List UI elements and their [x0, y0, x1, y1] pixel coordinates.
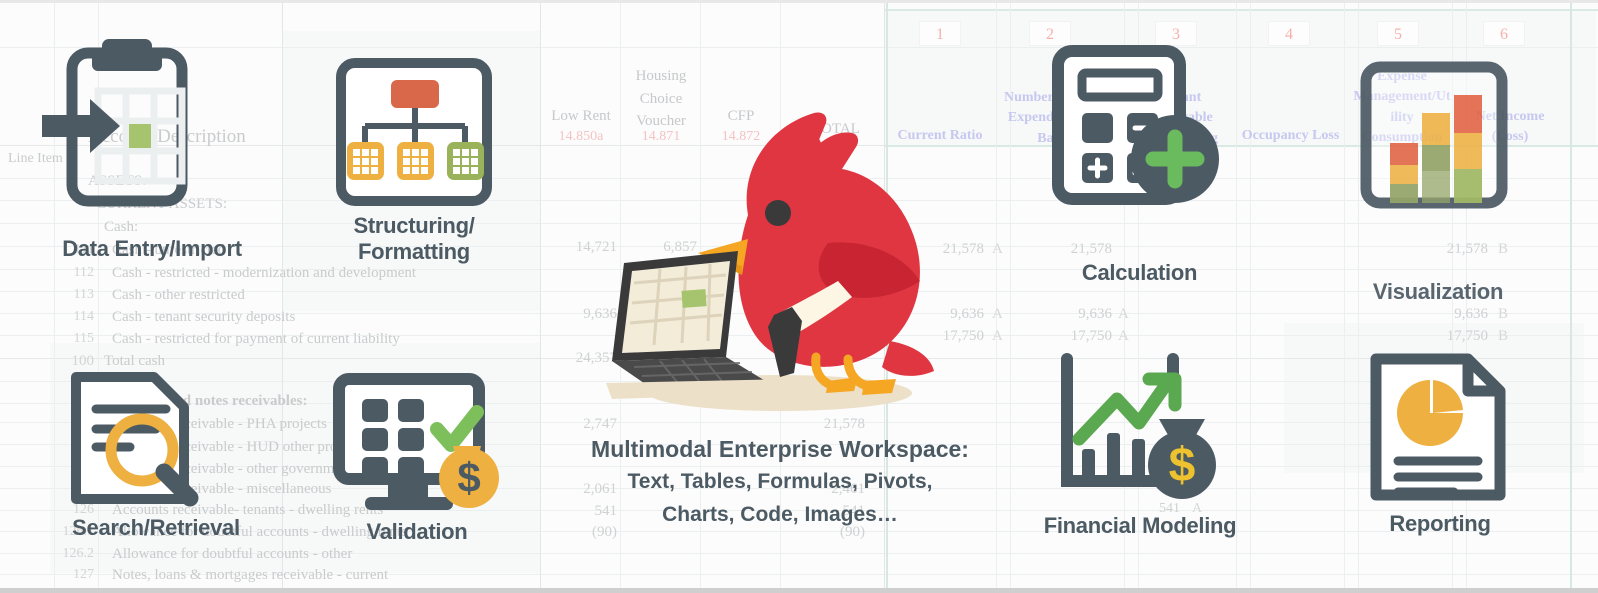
value-flag: B: [1498, 328, 1508, 345]
tile-calculation[interactable]: Calculation: [1052, 45, 1227, 220]
center-caption: Multimodal Enterprise Workspace: Text, T…: [540, 433, 1020, 531]
row-index: 127: [52, 567, 94, 583]
kpi-number-box: 3: [1155, 21, 1197, 46]
value-cell: 9,636: [1034, 306, 1112, 323]
hierarchy-icon: [336, 58, 492, 206]
row-desc: Allowance for doubtful accounts - other: [112, 546, 352, 563]
value-flag: B: [1498, 241, 1508, 258]
value-flag: B: [1498, 306, 1508, 323]
tile-label: Search/Retrieval: [40, 515, 272, 541]
tile-financial-modeling[interactable]: $ Financial Modeling: [1055, 353, 1225, 503]
value-flag: A: [992, 328, 1003, 345]
kpi-number-box: 4: [1268, 21, 1310, 46]
row-desc: Cash - tenant security deposits: [112, 309, 295, 326]
row-desc: Cash - restricted - modernization and de…: [112, 265, 416, 282]
value-cell: 9,636: [1410, 306, 1488, 323]
tile-visualization[interactable]: Visualization: [1360, 61, 1515, 216]
caption-line-3: Charts, Code, Images…: [540, 499, 1020, 532]
row-desc: Cash - other restricted: [112, 287, 245, 304]
tile-validation[interactable]: $ Validation: [333, 373, 503, 518]
value-cell: 2,747: [543, 416, 617, 433]
caption-line-1: Multimodal Enterprise Workspace:: [540, 433, 1020, 466]
caption-line-2: Text, Tables, Formulas, Pivots,: [540, 466, 1020, 499]
row-desc: Cash - restricted for payment of current…: [112, 331, 400, 348]
kpi-number-box: 6: [1483, 21, 1525, 46]
svg-text:$: $: [457, 454, 480, 501]
tile-label: Data Entry/Import: [38, 236, 266, 262]
tile-search-retrieval[interactable]: Search/Retrieval: [68, 367, 248, 517]
cardinal-bird-with-laptop-illustration: [590, 91, 940, 416]
kpi-number-box: 5: [1377, 21, 1419, 46]
value-cell: 17,750: [1034, 328, 1112, 345]
value-flag: A: [1118, 306, 1129, 323]
value-cell: 21,578: [1034, 241, 1112, 258]
tile-label: Validation: [317, 519, 517, 545]
value-cell: 17,750: [1410, 328, 1488, 345]
value-flag: A: [992, 241, 1003, 258]
bar-chart-icon: [1360, 61, 1508, 209]
value-flag: A: [1118, 328, 1129, 345]
value-cell: 21,578: [785, 416, 865, 433]
tile-structuring-formatting[interactable]: Structuring/ Formatting: [336, 58, 496, 208]
value-flag: A: [992, 306, 1003, 323]
clipboard-import-icon: [40, 31, 240, 216]
infographic-canvas: Line Item Account Description ASSETS: CU…: [0, 0, 1598, 593]
tile-label: Financial Modeling: [1015, 513, 1265, 539]
growth-money-bag-icon: $: [1055, 353, 1221, 503]
kpi-number-box: 2: [1029, 21, 1071, 46]
tile-label: Structuring/ Formatting: [314, 213, 514, 265]
tile-reporting[interactable]: Reporting: [1368, 351, 1513, 506]
row-index: 114: [52, 309, 94, 325]
row-index: 113: [52, 287, 94, 303]
kpi-col-header: Occupancy Loss: [1238, 126, 1343, 146]
monitor-check-money-icon: $: [333, 373, 503, 518]
row-desc: Notes, loans & mortgages receivable - cu…: [112, 567, 388, 584]
row-index: 112: [52, 265, 94, 281]
row-index: 126.2: [46, 546, 94, 562]
row-index: 115: [52, 331, 94, 347]
calculator-plus-icon: [1052, 45, 1224, 217]
svg-text:$: $: [1169, 439, 1196, 492]
tile-label: Visualization: [1348, 279, 1528, 305]
tile-data-entry-import[interactable]: Data Entry/Import: [40, 31, 260, 231]
document-magnifier-icon: [68, 367, 240, 515]
value-cell: 21,578: [1410, 241, 1488, 258]
tile-label: Calculation: [1042, 260, 1237, 286]
kpi-number-box: 1: [919, 21, 961, 46]
tile-label: Reporting: [1350, 511, 1530, 537]
pie-report-icon: [1368, 351, 1508, 503]
